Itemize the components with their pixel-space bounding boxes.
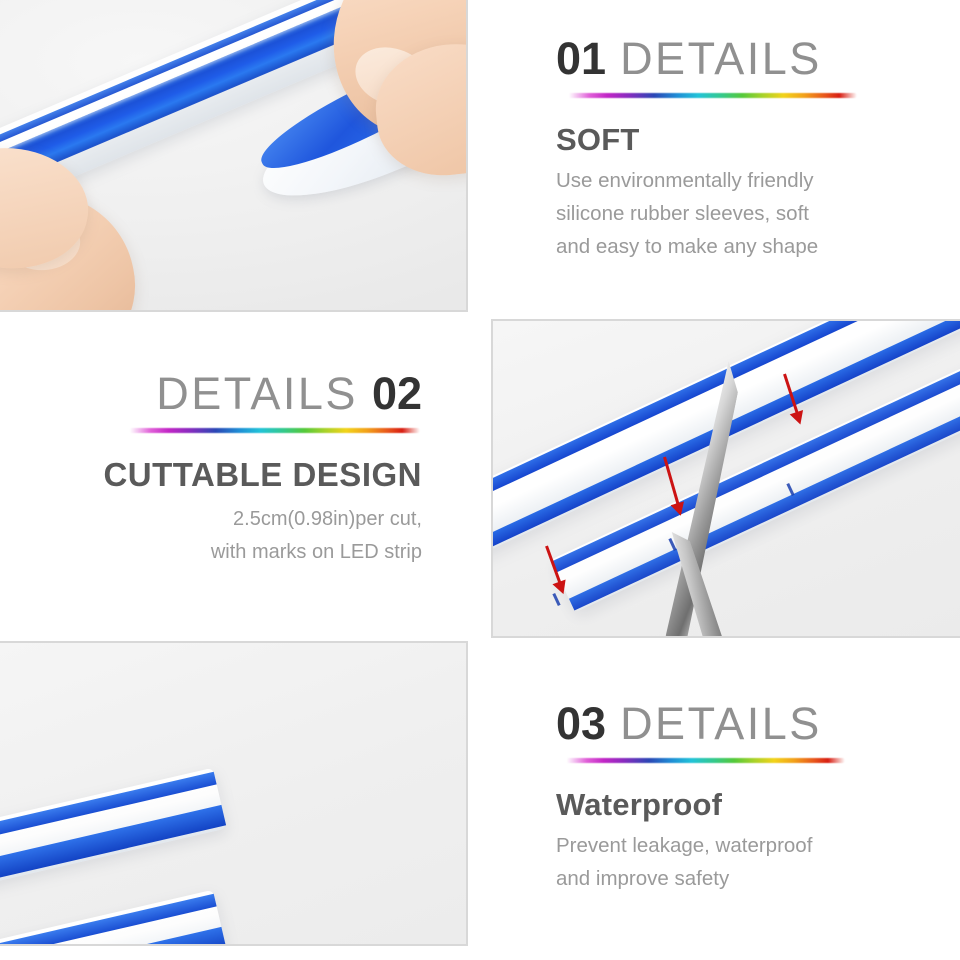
- section-number: 02: [372, 368, 422, 419]
- photo-soft-bend: [0, 0, 468, 312]
- detail-section-01: 01DETAILS SOFT Use environmentally frien…: [556, 30, 946, 263]
- detail-section-02: DETAILS02 CUTTABLE DESIGN 2.5cm(0.98in)p…: [30, 365, 422, 569]
- section-body: 2.5cm(0.98in)per cut, with marks on LED …: [30, 503, 422, 569]
- section-number: 01: [556, 33, 606, 84]
- rainbow-divider: [561, 758, 845, 763]
- body-line: and improve safety: [556, 862, 946, 895]
- section-word: DETAILS: [620, 33, 822, 84]
- section-body: Prevent leakage, waterproof and improve …: [556, 829, 946, 895]
- body-line: and easy to make any shape: [556, 230, 946, 263]
- body-line: Prevent leakage, waterproof: [556, 829, 946, 862]
- section-subhead: CUTTABLE DESIGN: [30, 455, 422, 495]
- section-headline: 01DETAILS: [556, 30, 946, 88]
- section-number: 03: [556, 698, 606, 749]
- rainbow-divider: [124, 428, 420, 433]
- body-line: silicone rubber sleeves, soft: [556, 197, 946, 230]
- section-headline: DETAILS02: [30, 365, 422, 423]
- photo-cut-scissors: [491, 319, 960, 638]
- rainbow-divider: [563, 93, 857, 98]
- section-body: Use environmentally friendly silicone ru…: [556, 164, 946, 263]
- section-subhead: Waterproof: [556, 785, 946, 825]
- product-detail-infographic: 01DETAILS SOFT Use environmentally frien…: [0, 0, 960, 960]
- section-word: DETAILS: [156, 368, 358, 419]
- body-line: 2.5cm(0.98in)per cut,: [30, 503, 422, 536]
- photo-background: [0, 643, 466, 944]
- body-line: Use environmentally friendly: [556, 164, 946, 197]
- photo-waterproof-connector: [0, 641, 468, 946]
- section-subhead: SOFT: [556, 120, 946, 160]
- section-headline: 03DETAILS: [556, 695, 946, 753]
- detail-section-03: 03DETAILS Waterproof Prevent leakage, wa…: [556, 695, 946, 895]
- section-word: DETAILS: [620, 698, 822, 749]
- body-line: with marks on LED strip: [30, 536, 422, 569]
